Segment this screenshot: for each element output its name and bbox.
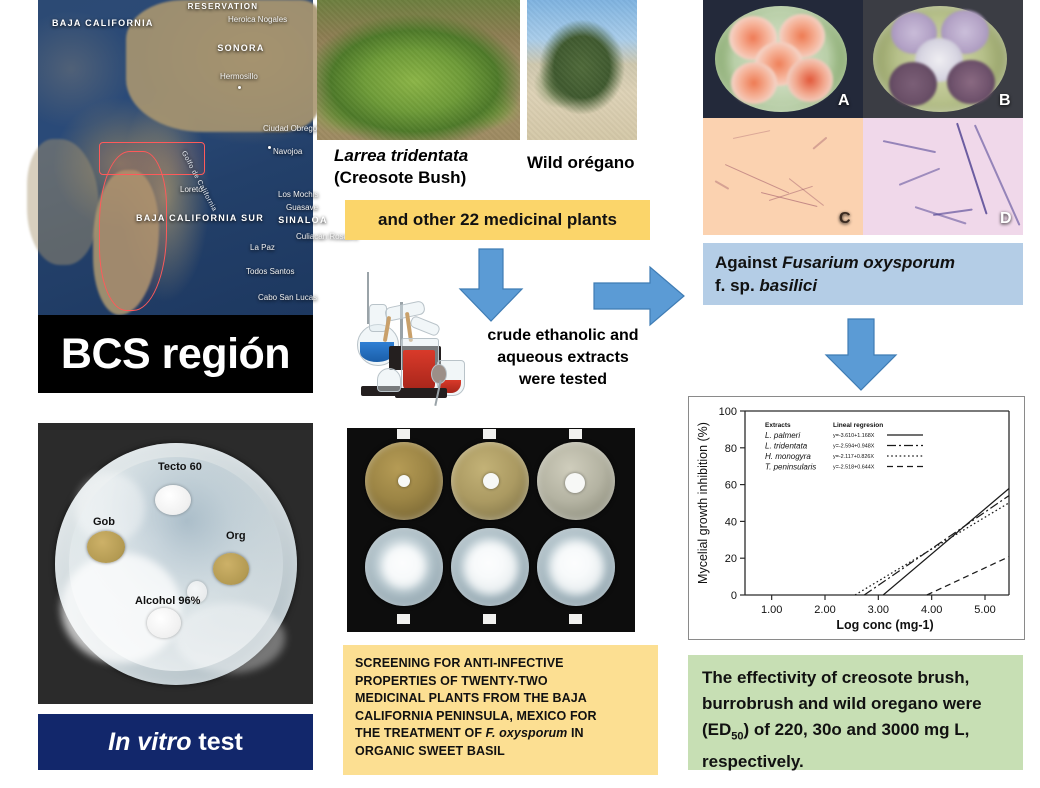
map-label-baja-california: BAJA CALIFORNIA (52, 18, 142, 29)
down-arrow-icon (452, 247, 530, 325)
in-vitro-banner-text: In vitro test (108, 728, 243, 757)
city-label-hermosillo: Hermosillo (220, 72, 258, 81)
chart-legend-equation: y=-2.117+0.826X (833, 454, 874, 460)
chart-xtick-label: 2.00 (814, 604, 835, 616)
dish-label-gob: Gob (93, 516, 115, 528)
chart-ytick-label: 80 (725, 443, 737, 455)
chart-legend-header-extracts: Extracts (765, 422, 791, 429)
culture-label-a: A (838, 92, 850, 110)
city-label-nogales: Heroica Nogales (228, 15, 276, 24)
conclusion-line-4: respectively. (702, 749, 1009, 775)
chart-ylabel: Mycelial growth inhibition (%) (696, 422, 710, 584)
chart-ytick-label: 100 (719, 406, 737, 418)
conclusion-line-1: The effectivity of creosote brush, (702, 665, 1009, 691)
title-line-5: THE TREATMENT OF F. oxysporum IN (355, 725, 646, 743)
disc-tecto60 (155, 485, 191, 515)
city-label-guasave: Guasave (286, 203, 318, 212)
chart-ytick-label: 0 (731, 590, 737, 602)
target-forma-specialis: f. sp. (715, 276, 759, 295)
dish-label-alcohol: Alcohol 96% (135, 595, 200, 607)
dish-label-org: Org (226, 530, 246, 542)
culture-label-c: C (839, 210, 851, 228)
chart-xtick-label: 3.00 (868, 604, 889, 616)
bcs-region-outline (99, 151, 167, 311)
bcs-region-banner-text: BCS región (61, 330, 290, 379)
culture-cell-c: C (703, 118, 863, 235)
crude-extracts-caption: crude ethanolic and aqueous extracts wer… (478, 325, 648, 391)
conclusion-line-2: burrobrush and wild oregano were (702, 691, 1009, 717)
map-label-baja-california-sur: BAJA CALIFORNIA SUR (136, 213, 236, 224)
city-label-los-mochis: Los Mochis (278, 190, 318, 199)
title-line-2: PROPERTIES OF TWENTY-TWO (355, 673, 646, 691)
chart-xtick-label: 1.00 (761, 604, 782, 616)
city-label-culiacan: Culiacán Rosales (296, 232, 326, 241)
chart-xtick-label: 4.00 (921, 604, 942, 616)
city-label-todos-santos: Todos Santos (246, 267, 294, 276)
six-petri-dishes-photo (347, 428, 635, 632)
title-line-1: SCREENING FOR ANTI-INFECTIVE (355, 655, 646, 673)
target-line-2: f. sp. basilici (715, 274, 1011, 297)
target-pathogen-box: Against Fusarium oxysporum f. sp. basili… (703, 243, 1023, 305)
chart-legend-header-regression: Lineal regresion (833, 422, 883, 429)
bcs-region-banner: BCS región (38, 315, 313, 393)
chart-legend-equation: y=-3.610+1.168X (833, 433, 875, 439)
city-label-navojoa: Navojoa (273, 147, 302, 156)
fusarium-culture-panel: A B C D (703, 0, 1023, 235)
regression-chart-svg: 020406080100 1.002.003.004.005.00 Extrac… (689, 397, 1022, 637)
target-species: Fusarium oxysporum (782, 253, 955, 272)
dish-label-tecto60: Tecto 60 (158, 461, 202, 473)
title-line-5a: THE TREATMENT OF (355, 726, 486, 740)
ed50-prefix: (ED (702, 720, 731, 739)
city-label-cabo-san-lucas: Cabo San Lucas (258, 293, 300, 302)
conclusion-box: The effectivity of creosote brush, burro… (688, 655, 1023, 770)
other-plants-text: and other 22 medicinal plants (378, 210, 617, 230)
ed50-values: ) of 220, 30o and 3000 mg L, (744, 720, 970, 739)
city-label-la-paz: La Paz (250, 243, 275, 252)
larrea-tridentata-photo (317, 0, 520, 140)
in-vitro-petri-dish-photo: Tecto 60 Gob Org Alcohol 96% (38, 423, 313, 704)
culture-label-d: D (1000, 210, 1012, 228)
map-label-reservation: RESERVATION (178, 1, 268, 12)
in-vitro-test-banner: In vitro test (38, 714, 313, 770)
title-species-name: F. oxysporum (486, 726, 568, 740)
title-line-3: MEDICINAL PLANTS FROM THE BAJA (355, 690, 646, 708)
ed50-subscript: 50 (731, 730, 743, 742)
chart-ytick-label: 40 (725, 516, 737, 528)
in-vitro-italic: In vitro (108, 728, 191, 756)
chart-xlabel: Log conc (mg-1) (836, 618, 933, 632)
other-plants-box: and other 22 medicinal plants (345, 200, 650, 240)
city-label-ciudad-obregon: Ciudad Obregón (263, 124, 311, 133)
disc-gob (87, 531, 125, 563)
baja-california-map: BAJA CALIFORNIA SONORA BAJA CALIFORNIA S… (38, 0, 313, 315)
culture-cell-b: B (863, 0, 1023, 118)
map-label-sonora: SONORA (206, 43, 276, 54)
title-line-4: CALIFORNIA PENINSULA, MEXICO FOR (355, 708, 646, 726)
chart-legend-series-name: T. peninsularis (765, 463, 816, 472)
culture-cell-a: A (703, 0, 863, 118)
chart-legend-series-name: L. palmeri (765, 431, 800, 440)
target-line-1: Against Fusarium oxysporum (715, 251, 1011, 274)
chart-ytick-label: 20 (725, 553, 737, 565)
in-vitro-rest: test (191, 728, 242, 756)
larrea-caption: Larrea tridentata (Creosote Bush) (334, 145, 468, 189)
chart-legend-series-name: L. tridentata (765, 442, 808, 451)
target-basilici: basilici (759, 276, 817, 295)
conclusion-line-3: (ED50) of 220, 30o and 3000 mg L, (702, 717, 1009, 749)
chart-legend-equation: y=-2.518+0.644X (833, 465, 875, 471)
disc-org (213, 553, 249, 585)
down-arrow-icon-right (820, 317, 902, 393)
oregano-caption: Wild orégano (527, 152, 635, 174)
disc-alcohol (147, 608, 181, 638)
chart-legend-equation: y=-2.594+0.948X (833, 444, 875, 450)
article-title-box: SCREENING FOR ANTI-INFECTIVE PROPERTIES … (343, 645, 658, 775)
larrea-scientific-name: Larrea tridentata (334, 146, 468, 165)
culture-cell-d: D (863, 118, 1023, 235)
title-line-5b: IN (567, 726, 583, 740)
larrea-common-name: (Creosote Bush) (334, 168, 466, 187)
culture-label-b: B (999, 92, 1011, 110)
wild-oregano-photo (527, 0, 637, 140)
chart-ytick-label: 60 (725, 480, 737, 492)
title-line-6: ORGANIC SWEET BASIL (355, 743, 646, 761)
regression-chart: 020406080100 1.002.003.004.005.00 Extrac… (688, 396, 1025, 640)
chart-xtick-label: 5.00 (974, 604, 995, 616)
map-label-sinaloa: SINALOA (278, 215, 328, 226)
right-arrow-icon (592, 265, 688, 327)
target-prefix: Against (715, 253, 782, 272)
chart-legend-series-name: H. monogyra (765, 452, 811, 461)
